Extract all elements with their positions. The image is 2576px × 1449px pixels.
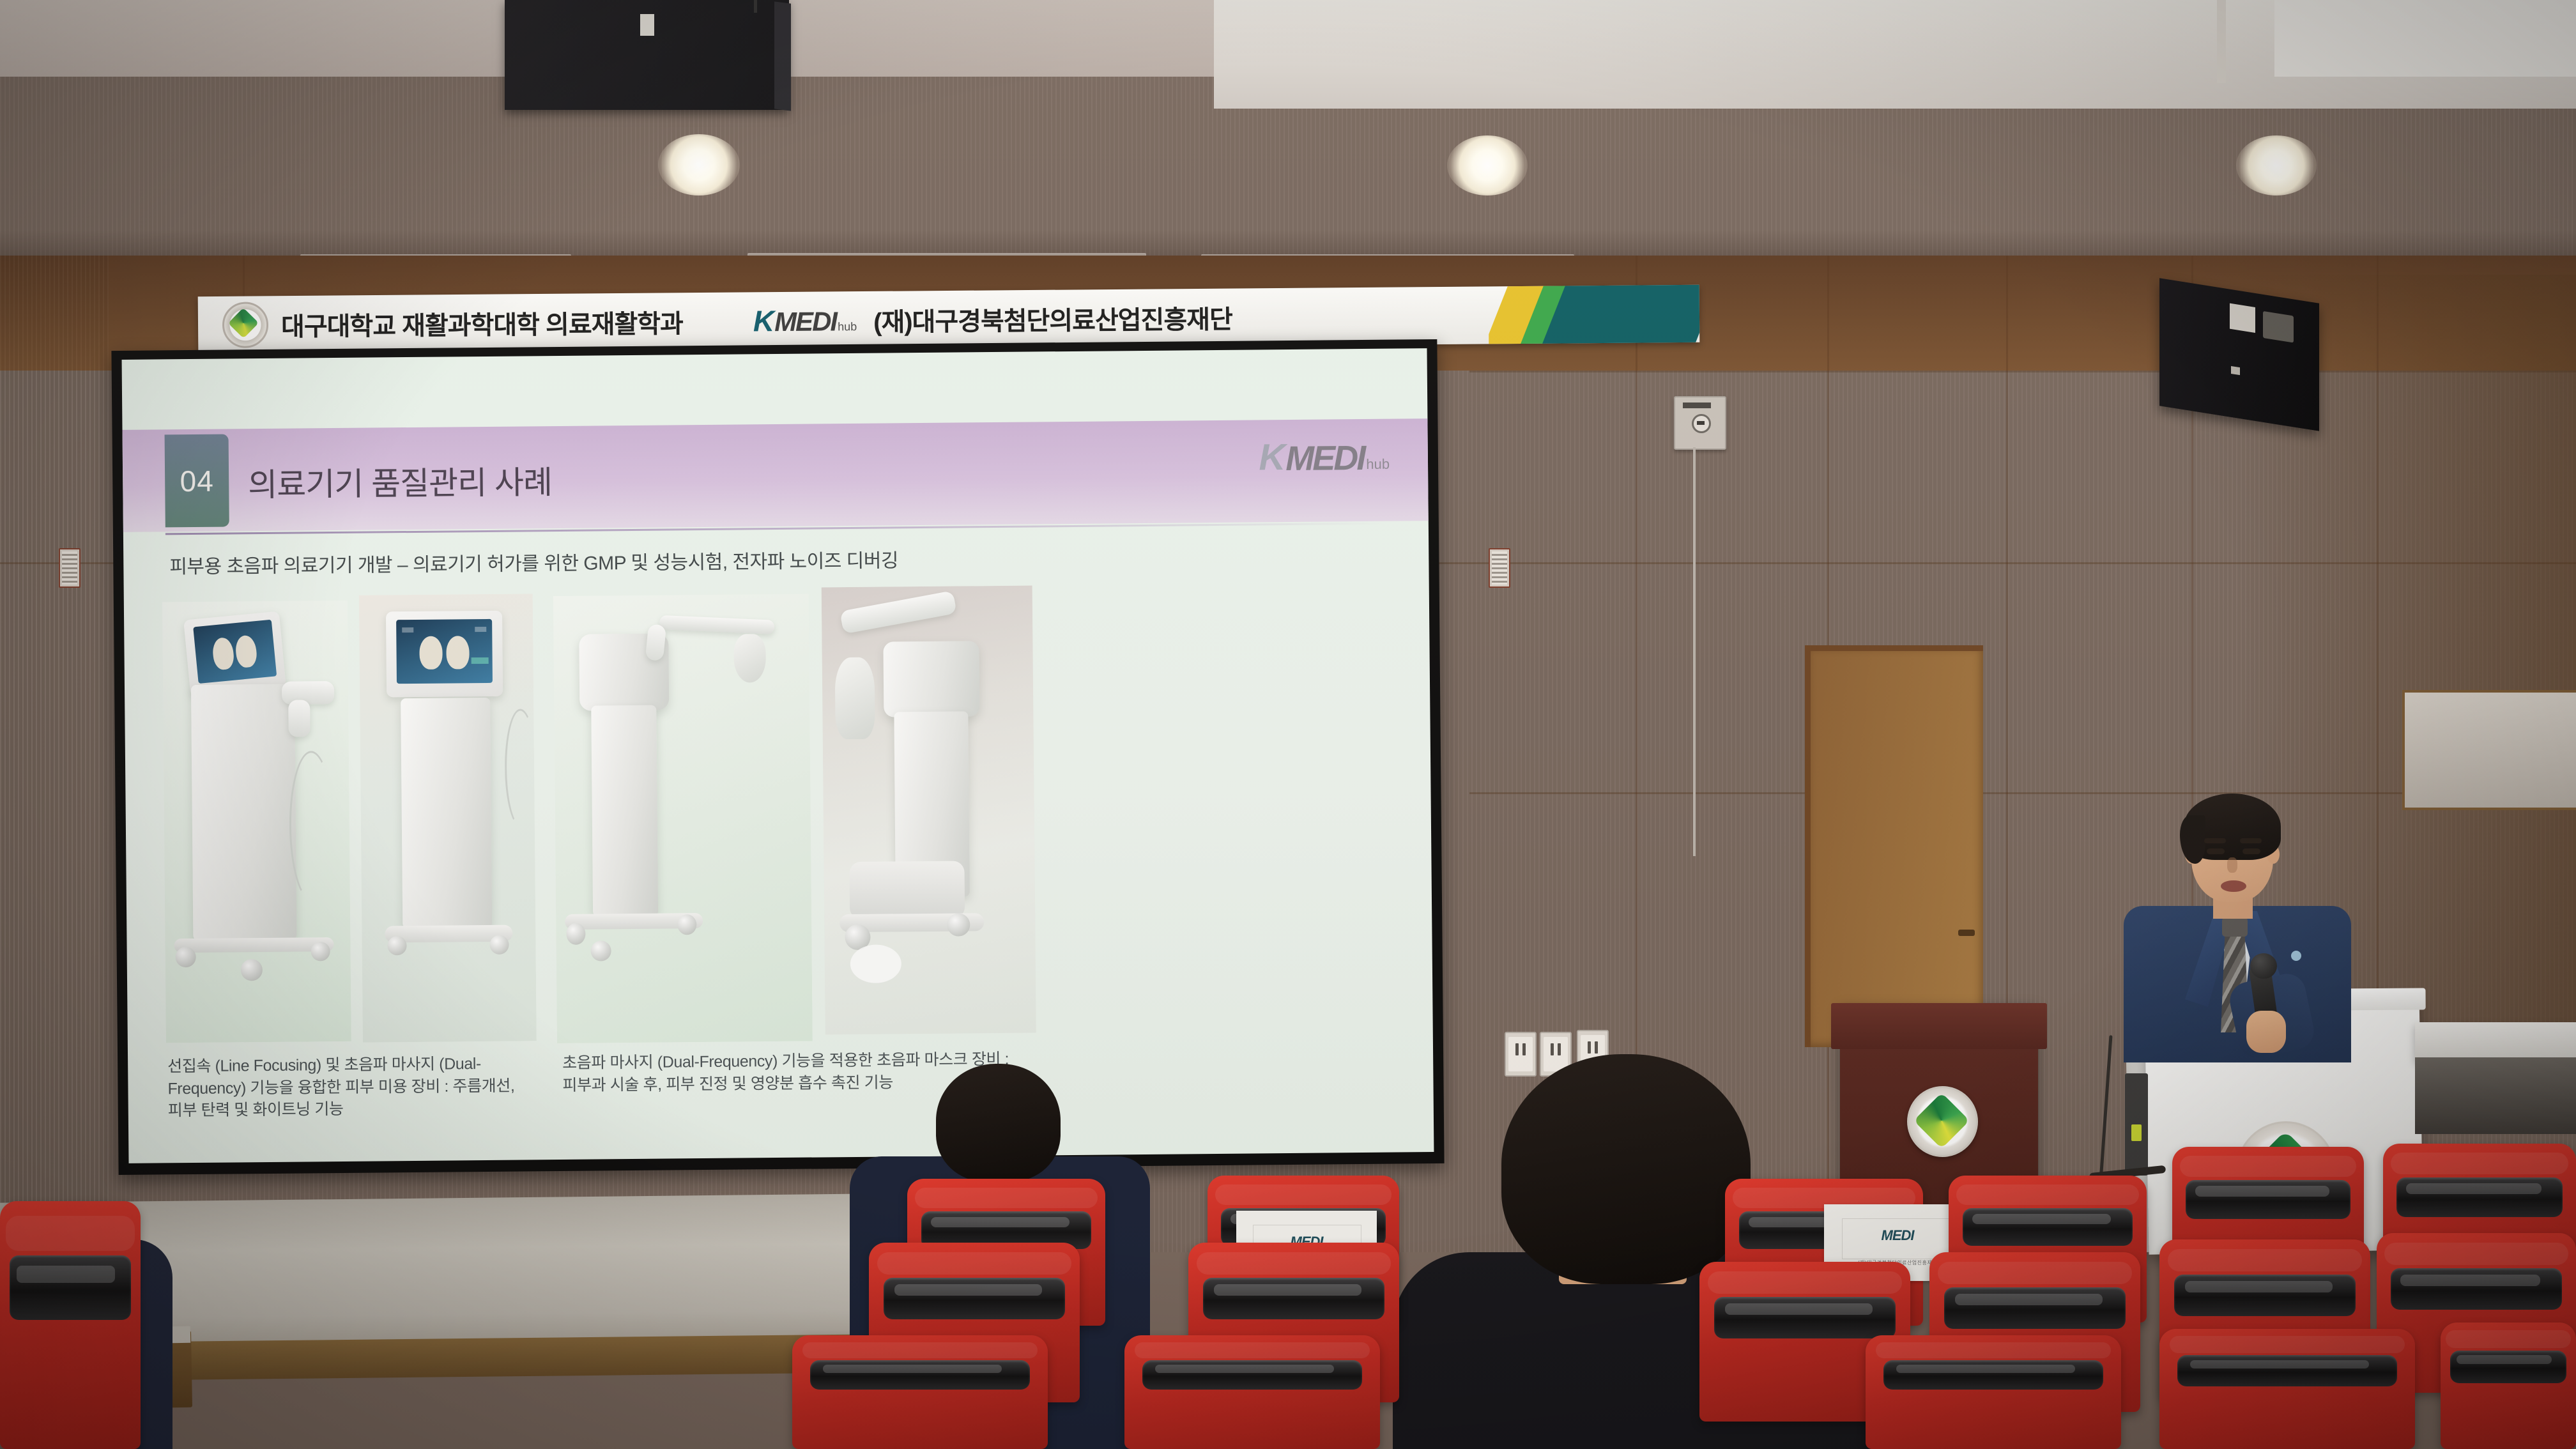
wall-alarm-plate bbox=[1489, 548, 1510, 588]
left-wall-dark bbox=[0, 256, 109, 1252]
microphone-head-icon bbox=[2250, 953, 2277, 979]
presenter-lapel-pin-icon bbox=[2291, 951, 2301, 961]
presenter-nose bbox=[2227, 857, 2237, 873]
side-door[interactable] bbox=[1805, 645, 1983, 1047]
kmedi-logo-hub: hub bbox=[838, 321, 857, 335]
kmedi-hub-logo: K MEDI hub bbox=[753, 305, 857, 335]
seat[interactable] bbox=[0, 1201, 141, 1449]
caption-right: 초음파 마사지 (Dual-Frequency) 기능을 적용한 초음파 마스크… bbox=[562, 1048, 1010, 1096]
slide-kmedi-logo: K MEDI hub bbox=[1259, 438, 1390, 477]
seat[interactable] bbox=[1124, 1335, 1380, 1449]
banner-stripe-decoration bbox=[1489, 285, 1700, 344]
side-table-skirt bbox=[2415, 1057, 2576, 1134]
slide-logo-hub: hub bbox=[1366, 457, 1390, 475]
auditorium-photo: 대구대학교 재활과학대학 의료재활학과 K MEDI hub (재)대구경북첨단… bbox=[0, 0, 2576, 1449]
door-handle-icon[interactable] bbox=[1958, 930, 1975, 936]
seat[interactable] bbox=[2441, 1322, 2576, 1449]
ceiling-white-band-right bbox=[2274, 0, 2576, 77]
caption-left: 선집속 (Line Focusing) 및 초음파 마사지 (Dual-Freq… bbox=[167, 1052, 526, 1121]
side-table bbox=[2415, 1022, 2576, 1061]
wall-control-box[interactable] bbox=[1674, 396, 1726, 450]
audience-member-2-head bbox=[1501, 1054, 1751, 1284]
seat[interactable] bbox=[2159, 1329, 2415, 1449]
presenter-eyebrow-right bbox=[2240, 838, 2262, 843]
control-box-cable bbox=[1693, 447, 1696, 856]
slide-title: 의료기기 품질관리 사례 bbox=[248, 457, 552, 505]
ceiling-downlight-icon bbox=[2236, 135, 2317, 195]
device-photo-3 bbox=[553, 594, 813, 1043]
ceiling-downlight-icon bbox=[1447, 135, 1528, 195]
device-photo-4 bbox=[822, 586, 1036, 1035]
daegu-university-emblem-icon bbox=[222, 302, 269, 348]
presenter-eyebrow-left bbox=[2204, 838, 2226, 843]
presenter-eye-left bbox=[2207, 848, 2225, 854]
ceiling-divider bbox=[2217, 0, 2226, 83]
slide-logo-medi: MEDI bbox=[1285, 441, 1364, 476]
presenter bbox=[2108, 786, 2364, 1054]
device-photo-1 bbox=[162, 601, 351, 1043]
presenter-mouth bbox=[2221, 880, 2246, 892]
wall-speaker-icon bbox=[2159, 278, 2319, 431]
projection-screen-frame: 04 의료기기 품질관리 사례 K MEDI hub 피부용 초음파 의료기기 … bbox=[111, 339, 1444, 1175]
kmedi-logo-k: K bbox=[753, 306, 775, 335]
ceiling-downlight-icon bbox=[658, 134, 740, 195]
lectern-indicator-light bbox=[2131, 1124, 2142, 1141]
slide-logo-k: K bbox=[1259, 439, 1285, 476]
seat[interactable] bbox=[792, 1335, 1048, 1449]
lectern-university-emblem-icon bbox=[1907, 1086, 1978, 1157]
banner-right-org: (재)대구경북첨단의료산업진흥재단 bbox=[873, 299, 1232, 339]
projected-slide: 04 의료기기 품질관리 사례 K MEDI hub 피부용 초음파 의료기기 … bbox=[122, 348, 1434, 1163]
presenter-hand bbox=[2246, 1011, 2286, 1053]
presenter-tie-knot bbox=[2222, 917, 2248, 937]
kmedi-logo-medi: MEDI bbox=[774, 308, 836, 335]
wall-outlet[interactable] bbox=[1505, 1032, 1537, 1077]
presenter-hair-side bbox=[2180, 815, 2205, 864]
speaker-cable bbox=[754, 0, 757, 13]
slide-subtitle: 피부용 초음파 의료기기 개발 – 의료기기 허가를 위한 GMP 및 성능시험… bbox=[169, 544, 898, 579]
presenter-eye-right bbox=[2242, 848, 2260, 854]
device-monitor bbox=[386, 611, 503, 698]
slide-section-number: 04 bbox=[180, 463, 214, 498]
device-photo-2 bbox=[359, 594, 537, 1042]
slide-section-badge: 04 bbox=[165, 434, 229, 527]
audience-member-1-head bbox=[936, 1064, 1061, 1182]
wall-alarm-plate bbox=[59, 548, 80, 588]
seat[interactable] bbox=[1866, 1335, 2121, 1449]
right-wall-panel bbox=[2402, 690, 2576, 810]
banner-left-org: 대구대학교 재활과학대학 의료재활학과 bbox=[281, 303, 683, 343]
ceiling-speaker-icon bbox=[505, 0, 789, 110]
